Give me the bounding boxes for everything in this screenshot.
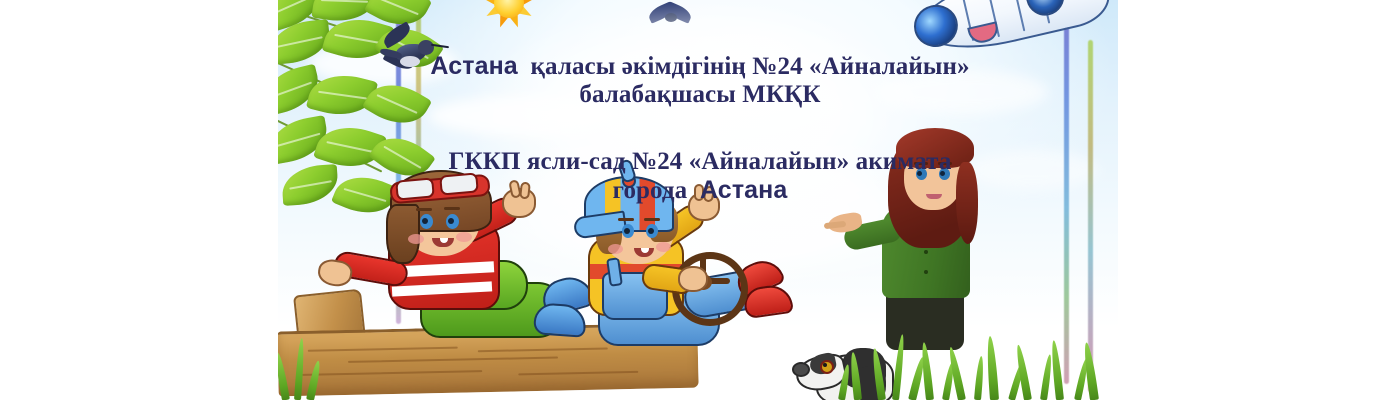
russian-title-line-2: города Астана — [0, 176, 1400, 205]
bird-icon — [648, 4, 692, 30]
kazakh-city-name: Астана — [430, 52, 517, 80]
dog-icon — [790, 338, 900, 400]
russian-city-name: Астана — [700, 176, 787, 204]
kazakh-title-line-2: балабақшасы МКҚК — [0, 81, 1400, 109]
kazakh-title-block: Астана қаласы әкімдігінің №24 «Айналайын… — [0, 52, 1400, 109]
russian-title-gap — [687, 177, 700, 204]
child-driver-illustration — [546, 200, 806, 365]
russian-title-block: ГККП ясли-сад №24 «Айналайын» акимата го… — [0, 148, 1400, 205]
kazakh-title-rest-text: қаласы әкімдігінің №24 «Айналайын» — [531, 53, 970, 80]
sun-icon — [470, 0, 548, 20]
kazakh-title-line-1: Астана қаласы әкімдігінің №24 «Айналайын… — [0, 52, 1400, 81]
russian-title-line-1: ГККП ясли-сад №24 «Айналайын» акимата — [0, 148, 1400, 176]
russian-city-prefix: города — [613, 177, 688, 204]
banner-stage: Астана қаласы әкімдігінің №24 «Айналайын… — [0, 0, 1400, 400]
kazakh-title-rest — [518, 53, 531, 80]
